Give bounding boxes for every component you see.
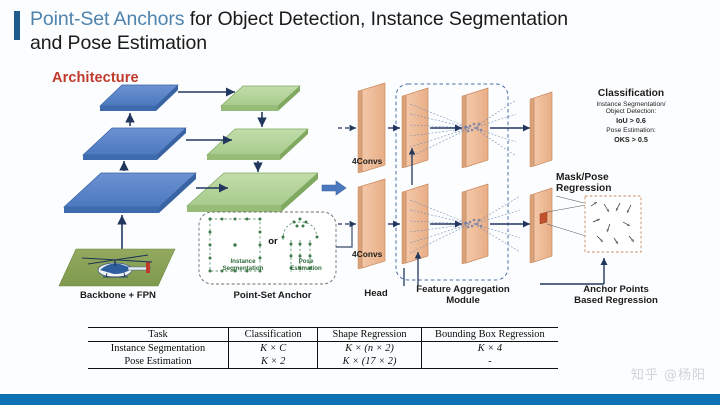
cell-bbox-regression: - (421, 355, 558, 369)
fam-slab-top-right (462, 88, 488, 168)
table-row: Pose Estimation K × 2 K × (17 × 2) - (88, 355, 558, 369)
label-anchor-points-based-regression: Anchor Points Based Regression (540, 285, 692, 306)
table-row: Instance Segmentation K × C K × (n × 2) … (88, 342, 558, 356)
leader-mask-pose (556, 196, 584, 203)
cell-task: Instance Segmentation (88, 342, 228, 356)
table-header-bbox-regression: Bounding Box Regression (421, 328, 558, 342)
results-table: Task Classification Shape Regression Bou… (88, 327, 558, 369)
arrow-fpn-to-head (322, 181, 346, 195)
title-accent-bar (14, 11, 20, 40)
fam-slab-top-left (402, 88, 428, 168)
input-image-thumbnail (59, 249, 175, 286)
fpn-green-level-2 (207, 129, 308, 160)
fam-sampling-fan-top-out (474, 100, 516, 156)
label-mask-pose-regression: Mask/Pose Regression (556, 172, 686, 195)
fpn-green-level-3 (221, 86, 300, 111)
cell-bbox-regression: K × 4 (421, 342, 558, 356)
title-accent-text: Point-Set Anchors (30, 8, 184, 30)
fam-sampling-fan-bottom-out (474, 196, 520, 252)
label-classification-sub: Instance Segmentation/ Object Detection: (556, 101, 706, 116)
cell-shape-regression: K × (n × 2) (318, 342, 421, 356)
label-classification-oks: OKS > 0.5 (556, 136, 706, 144)
output-slab-regression (530, 188, 586, 263)
watermark: 知乎 @杨阳 (631, 364, 706, 383)
cell-task: Pose Estimation (88, 355, 228, 369)
output-slab-classification (530, 92, 552, 167)
label-classification-iou: IoU > 0.6 (556, 117, 706, 125)
label-instance-segmentation: Instance Segmentation (208, 259, 278, 273)
fam-slab-bottom-right (462, 184, 488, 264)
feature-aggregation-container (396, 84, 508, 280)
cell-shape-regression: K × (17 × 2) (318, 355, 421, 369)
label-4convs-bottom: 4Convs (352, 250, 404, 259)
table-header-task: Task (88, 328, 228, 342)
fam-sampling-fan-bottom (410, 200, 470, 253)
connector-anchor-to-head (336, 225, 352, 247)
point-set-anchor-panel (199, 212, 336, 284)
label-feature-aggregation-module: Feature Aggregation Module (395, 285, 531, 306)
cell-classification: K × C (228, 342, 317, 356)
fam-aggregation-points-top (465, 123, 483, 133)
table-header-row: Task Classification Shape Regression Bou… (88, 328, 558, 342)
label-4convs-top: 4Convs (352, 157, 404, 166)
label-pose-estimation: Pose Estimation (279, 259, 333, 273)
slide-root: Point-Set Anchors for Object Detection, … (0, 0, 720, 405)
label-or: or (264, 237, 282, 248)
label-classification: Classification (556, 88, 706, 99)
page-title: Point-Set Anchors for Object Detection, … (30, 7, 590, 55)
fam-aggregation-points-bottom (465, 219, 483, 229)
label-classification-pose: Pose Estimation: (556, 127, 706, 134)
label-backbone-fpn: Backbone + FPN (48, 291, 188, 302)
anchor-regression-box (585, 196, 641, 252)
output-highlight-cell (540, 212, 547, 224)
fam-slab-bottom-left (402, 184, 428, 264)
fpn-blue-level-2 (83, 128, 186, 160)
bottom-accent-band (0, 394, 720, 405)
fam-sampling-fan-top (410, 104, 470, 157)
title-area: Point-Set Anchors for Object Detection, … (0, 0, 720, 66)
fpn-blue-level-3 (100, 85, 178, 111)
cell-classification: K × 2 (228, 355, 317, 369)
fpn-blue-level-1 (64, 173, 196, 213)
anchor-displacement-vectors (591, 202, 634, 244)
table-header-shape-regression: Shape Regression (318, 328, 421, 342)
table-header-classification: Classification (228, 328, 317, 342)
label-point-set-anchor: Point-Set Anchor (205, 291, 340, 302)
architecture-label: Architecture (52, 70, 139, 86)
fpn-green-level-1 (187, 173, 318, 212)
